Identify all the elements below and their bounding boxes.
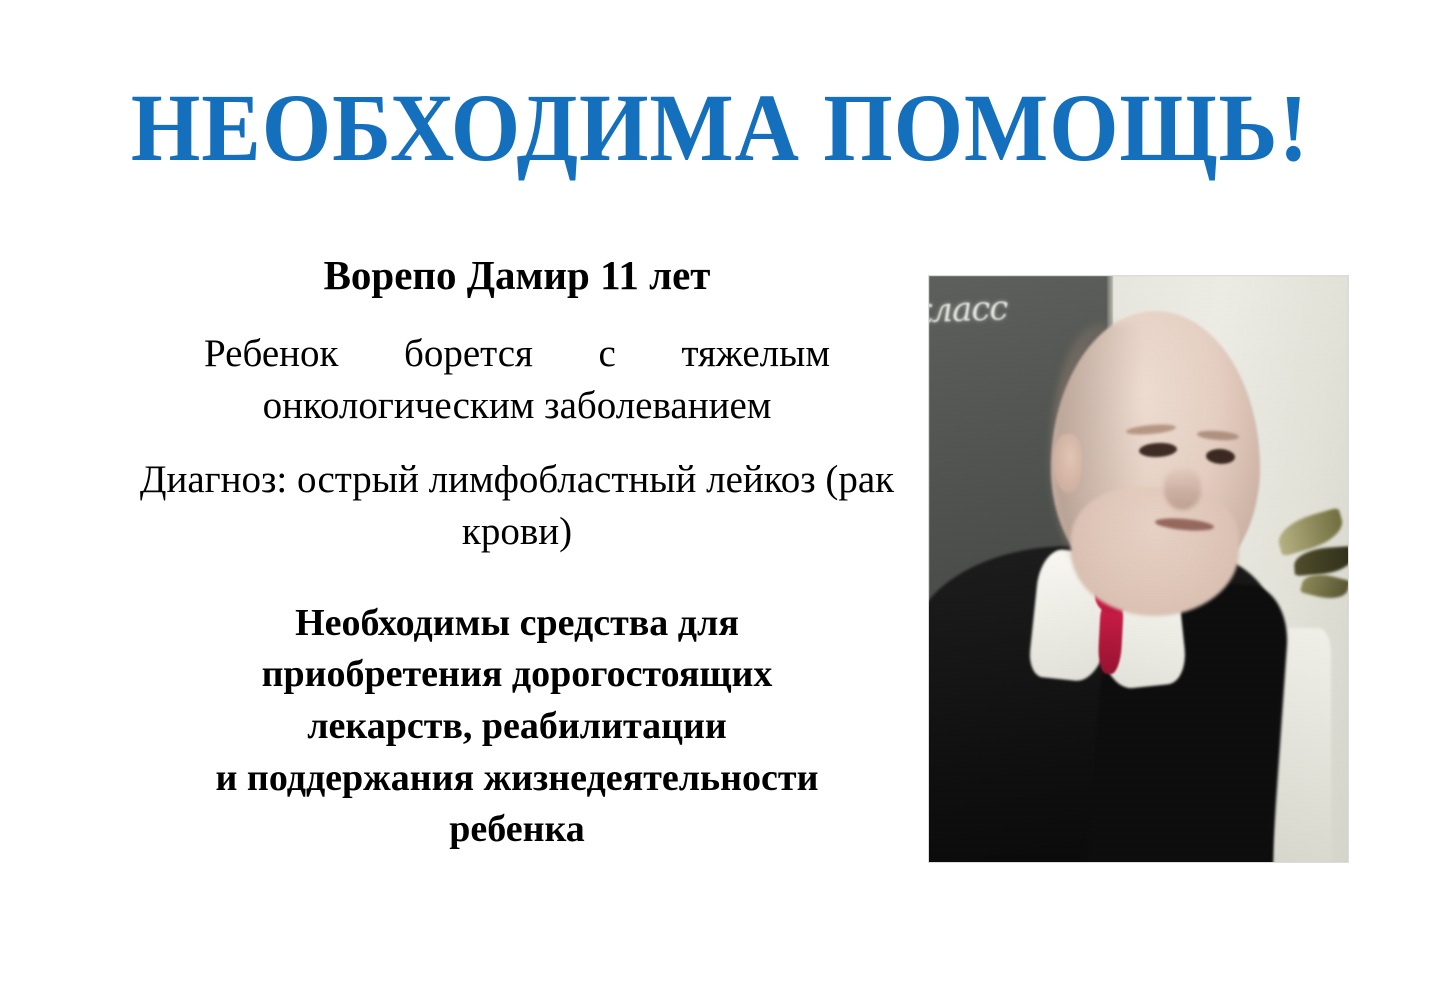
needs-statement: Необходимы средства для приобретения дор… xyxy=(104,598,930,856)
chalkboard-text: класс xyxy=(929,286,1055,331)
condition-description: Ребенок борется с тяжелым онкологическим… xyxy=(104,328,930,433)
child-photo: класс xyxy=(929,276,1348,862)
diagnosis-text: Диагноз: острый лимфобластный лейкоз (ра… xyxy=(104,454,930,558)
page-title: НЕОБХОДИМА ПОМОЩЬ! xyxy=(50,78,1389,179)
needs-line-2: приобретения дорогостоящих xyxy=(128,649,906,701)
needs-line-1: Необходимы средства для xyxy=(128,598,906,650)
jaw xyxy=(1071,487,1239,616)
needs-line-5: ребенка xyxy=(128,804,906,856)
appeal-text-column: Ворепо Дамир 11 лет Ребенок борется с тя… xyxy=(104,252,930,856)
needs-line-3: лекарств, реабилитации xyxy=(128,701,906,753)
charity-appeal-slide: НЕОБХОДИМА ПОМОЩЬ! Ворепо Дамир 11 лет Р… xyxy=(0,0,1440,1000)
photo-illustration: класс xyxy=(929,276,1348,862)
ear xyxy=(1053,434,1082,493)
child-name: Ворепо Дамир 11 лет xyxy=(104,252,930,300)
needs-line-4: и поддержания жизнедеятельности xyxy=(128,753,906,805)
